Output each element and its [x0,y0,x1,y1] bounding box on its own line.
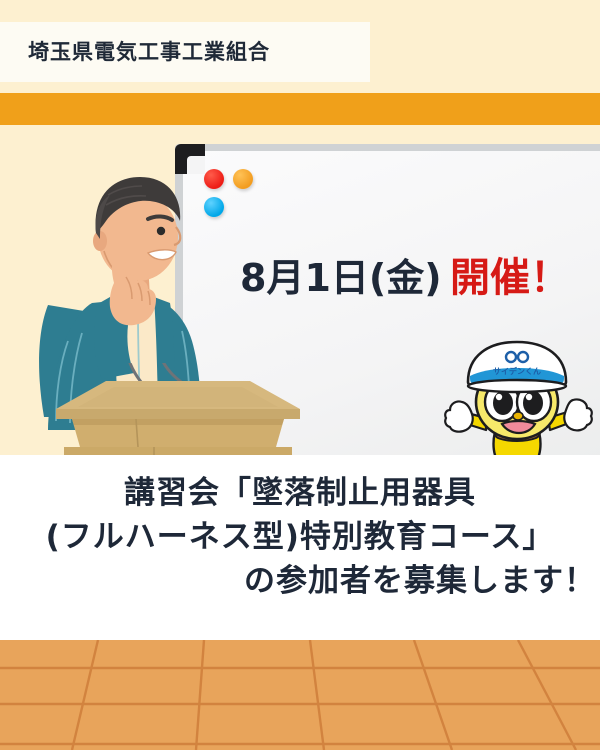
headline-line-2: (フルハーネス型)特別教育コース」 [0,515,600,559]
organization-name: 埼玉県電気工事工業組合 [28,33,270,71]
svg-text:サイデンくん: サイデンくん [493,366,541,376]
tiled-floor [0,640,600,750]
headline-line-1: 講習会「墜落制止用器具 [0,471,600,515]
event-status-text: 開催！ [450,245,570,303]
podium-icon [28,363,328,455]
headline-line-3: の参加者を募集します！ [0,559,600,603]
mascot-saidenkun: サイデンくん [440,340,595,455]
poster-root: 埼玉県電気工事工業組合 8月1日(金) 開催！ [0,0,600,750]
headline-block: 講習会「墜落制止用器具 (フルハーネス型)特別教育コース」 の参加者を募集します… [0,455,600,640]
top-banner: 埼玉県電気工事工業組合 [0,0,600,93]
illustration-scene: 8月1日(金) 開催！ [0,125,600,455]
orange-divider [0,93,600,125]
